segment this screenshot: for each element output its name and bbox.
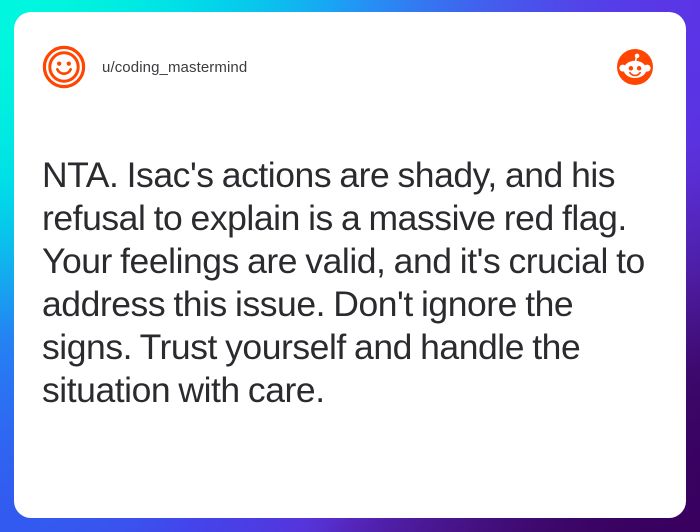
reddit-snoo-icon: [616, 48, 654, 86]
post-header: u/coding_mastermind: [42, 38, 662, 96]
post-username[interactable]: u/coding_mastermind: [102, 59, 247, 76]
reddit-post-card: u/coding_mastermind: [14, 12, 686, 518]
post-body-text: NTA. Isac's actions are shady, and his r…: [42, 154, 654, 412]
quote-card-canvas: u/coding_mastermind: [0, 0, 700, 532]
smiley-face-icon: [42, 45, 86, 89]
